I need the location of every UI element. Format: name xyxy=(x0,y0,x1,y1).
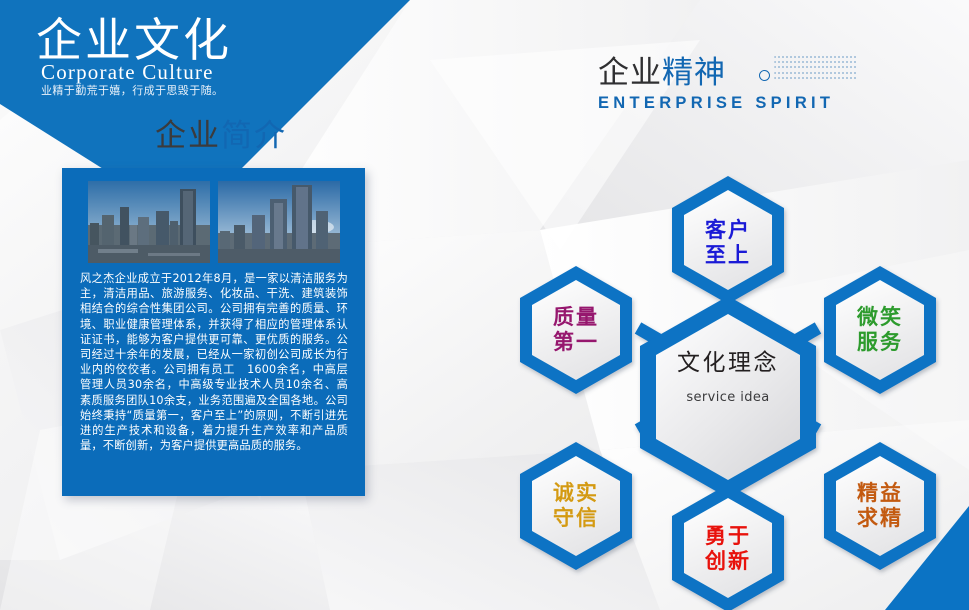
intro-heading-dark: 企业 xyxy=(155,118,221,154)
banner-title-cn: 企业文化 xyxy=(36,14,232,66)
spirit-title-en: ENTERPRISE SPIRIT xyxy=(598,94,834,113)
decorative-text-lines xyxy=(774,56,858,86)
banner-title-en: Corporate Culture xyxy=(41,60,214,84)
city-skyline-photo-1 xyxy=(88,181,210,263)
photo-row xyxy=(88,181,340,263)
intro-heading: 企业简介 xyxy=(155,116,287,156)
spirit-title-dark: 企业 xyxy=(598,55,662,91)
spirit-title-block: 企业精神 ENTERPRISE SPIRIT xyxy=(598,54,834,113)
intro-heading-blue: 简介 xyxy=(221,118,287,154)
hexagon-cluster: 客户 至上 质量 第一 微笑 服务 诚实 守信 精益 求精 勇于 创新 文化理念… xyxy=(488,100,969,610)
banner-motto: 业精于勤荒于嬉，行成于思毁于随。 xyxy=(41,84,223,98)
spirit-title-blue: 精神 xyxy=(662,55,726,91)
spirit-ring-icon xyxy=(759,70,770,81)
city-skyline-photo-2 xyxy=(218,181,340,263)
intro-card: 风之杰企业成立于2012年8月，是一家以清洁服务为主，清洁用品、旅游服务、化妆品… xyxy=(62,168,365,496)
intro-body-text: 风之杰企业成立于2012年8月，是一家以清洁服务为主，清洁用品、旅游服务、化妆品… xyxy=(80,271,348,453)
poster-canvas: 企业文化 Corporate Culture 业精于勤荒于嬉，行成于思毁于随。 … xyxy=(0,0,969,610)
